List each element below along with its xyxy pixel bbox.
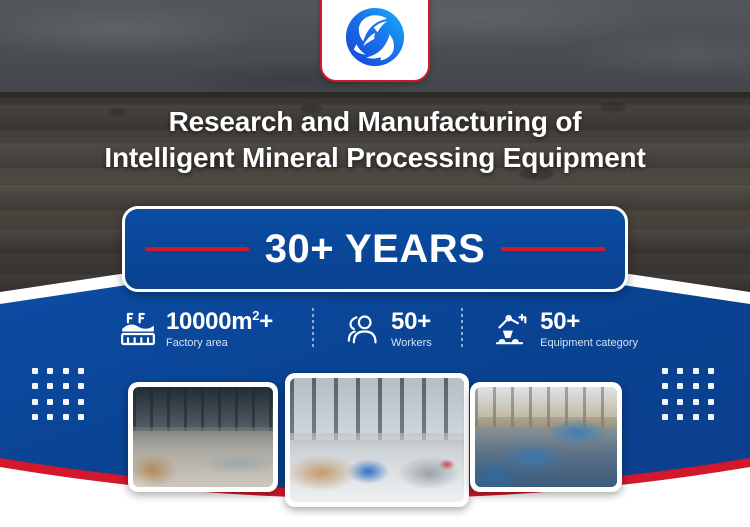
stat-factory-area: 10000m2+ Factory area: [118, 309, 273, 349]
logo-card: [320, 0, 430, 82]
stat-workers: 50+ Workers: [343, 309, 432, 349]
stat-label: Equipment category: [540, 338, 638, 349]
divider: [312, 308, 314, 350]
dot-grid-icon: [662, 368, 718, 424]
left-rule: [145, 247, 249, 251]
stat-equipment-category: 50+ Equipment category: [492, 309, 638, 349]
workers-icon: [343, 310, 383, 348]
stat-label: Factory area: [166, 338, 273, 349]
factory-icon: [118, 310, 158, 348]
stat-label: Workers: [391, 338, 432, 349]
swirl-logo-icon: [344, 6, 406, 68]
workshop-interior-photo: [128, 382, 278, 492]
stat-value: 50+: [391, 309, 432, 334]
ball-mill-assembly-photo: [470, 382, 622, 492]
years-label: 30+ YEARS: [265, 229, 486, 269]
banner-stage: Research and Manufacturing of Intelligen…: [0, 0, 750, 527]
dot-grid-icon: [32, 368, 88, 424]
robot-arm-icon: [492, 310, 532, 348]
page-title: Research and Manufacturing of Intelligen…: [0, 104, 750, 176]
years-badge: 30+ YEARS: [122, 206, 628, 292]
right-rule: [501, 247, 605, 251]
divider: [461, 308, 463, 350]
stat-value: 10000m2+: [166, 309, 273, 334]
stats-row: 10000m2+ Factory area 50+ Workers: [118, 303, 638, 355]
ball-mill-production-hall-photo: [285, 373, 469, 507]
stat-value: 50+: [540, 309, 638, 334]
